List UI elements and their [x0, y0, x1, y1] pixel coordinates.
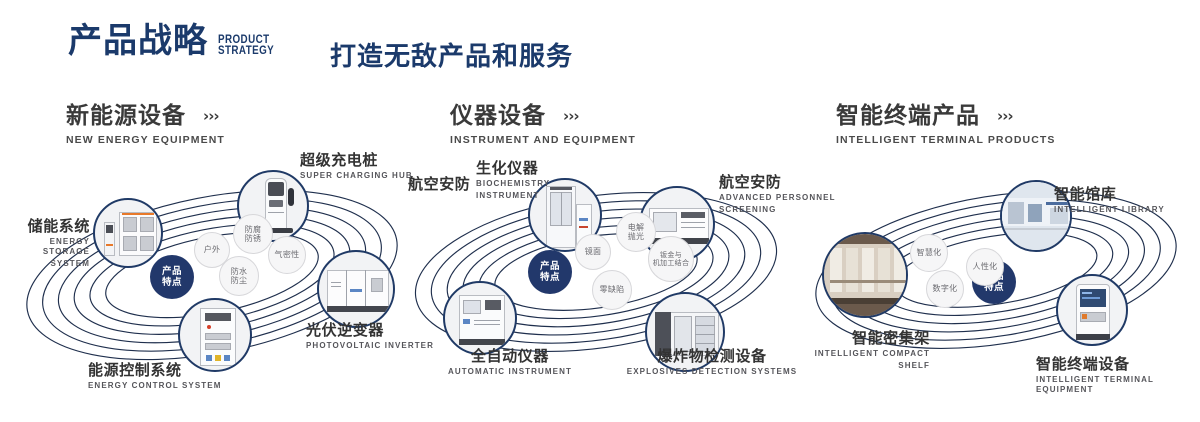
page-subtitle: 打造无敌产品和服务 [330, 36, 573, 73]
feature-line1: 数字化 [933, 284, 958, 294]
core-bubble-line1: 产品 [162, 266, 182, 277]
section-title-instrument: 仪器设备 ››› INSTRUMENT AND EQUIPMENT [450, 96, 636, 146]
caption-intelligent-compact-shelf: 智能密集架 INTELLIGENT COMPACT SHELF [790, 330, 930, 371]
caption-energy-control-system: 能源控制系统 ENERGY CONTROL SYSTEM [88, 362, 222, 391]
battery-cabinet-icon [95, 200, 161, 266]
caption-en-line2: SYSTEM [0, 259, 90, 269]
inverter-cabinet-icon [319, 252, 393, 326]
section-title-new-energy: 新能源设备 ››› NEW ENERGY EQUIPMENT [66, 96, 225, 146]
chevron-right-triple-icon: ››› [203, 107, 219, 125]
product-strategy-infographic: 产品战略 PRODUCT STRATEGY 打造无敌产品和服务 新能源设备 ››… [0, 0, 1200, 422]
feature-bubble-digitalization[interactable]: 数字化 [926, 270, 964, 308]
core-bubble-line1: 产品 [540, 261, 560, 272]
feature-line1: 防水 [231, 267, 248, 277]
feature-bubble-zero-defect[interactable]: 零缺陷 [592, 270, 632, 310]
caption-en-line1: INTELLIGENT TERMINAL EQUIPMENT [1036, 375, 1200, 395]
feature-line2: 抛光 [628, 232, 645, 242]
core-bubble-line2: 特点 [540, 272, 560, 283]
caption-en-line1: SUPER CHARGING HUB [300, 171, 413, 181]
feature-line2: 防尘 [231, 276, 248, 286]
caption-automatic-instrument: 全自动仪器 AUTOMATIC INSTRUMENT [430, 348, 590, 377]
caption-aviation-security-left: 航空安防 [408, 176, 470, 193]
caption-cn: 爆炸物检测设备 [620, 348, 804, 365]
feature-line1: 防腐 [245, 225, 262, 235]
caption-cn: 智能密集架 [790, 330, 930, 347]
chevron-right-triple-icon: ››› [997, 107, 1013, 125]
section-title-cn-text: 智能终端产品 [836, 103, 980, 129]
feature-line1: 零缺陷 [600, 285, 625, 295]
caption-cn: 航空安防 [408, 176, 470, 193]
chevron-right-triple-icon: ››› [563, 107, 579, 125]
caption-intelligent-library: 智能馆库 INTELLIGENT LIBRARY [1054, 186, 1165, 215]
feature-line1: 钣金与 [660, 251, 682, 260]
feature-line1: 户外 [204, 245, 221, 255]
caption-biochemistry-instrument: 生化仪器 BIOCHEMISTRY INSTRUMENT [476, 160, 550, 201]
caption-en-line1: ENERGY STORAGE [0, 237, 90, 257]
product-bubble-energy-storage[interactable] [93, 198, 163, 268]
core-bubble-product-features[interactable]: 产品 特点 [528, 250, 572, 294]
feature-line2: 机加工结合 [653, 259, 690, 268]
feature-line1: 气密性 [275, 250, 300, 260]
section-title-cn: 新能源设备 ››› [66, 96, 225, 130]
caption-en-line1: AUTOMATIC INSTRUMENT [430, 367, 590, 377]
automatic-instrument-icon [445, 283, 515, 353]
page-title-en-line2: STRATEGY [218, 45, 274, 56]
feature-bubble-intelligence[interactable]: 智慧化 [910, 234, 948, 272]
caption-super-charging-hub: 超级充电桩 SUPER CHARGING HUB [300, 152, 413, 181]
section-title-intelligent-terminal: 智能终端产品 ››› INTELLIGENT TERMINAL PRODUCTS [836, 96, 1056, 146]
page-title: 产品战略 PRODUCT STRATEGY [68, 24, 286, 58]
page-title-en: PRODUCT STRATEGY [218, 34, 274, 56]
caption-cn: 储能系统 [0, 218, 90, 235]
feature-line1: 人性化 [973, 262, 998, 272]
section-title-cn: 智能终端产品 ››› [836, 96, 1056, 130]
product-bubble-smart-terminal[interactable] [1056, 274, 1128, 346]
caption-en-line2: INSTRUMENT [476, 191, 550, 201]
feature-bubble-sheetmetal-machining[interactable]: 钣金与 机加工结合 [648, 236, 694, 282]
compact-shelf-icon [824, 234, 906, 316]
caption-en-line1: ENERGY CONTROL SYSTEM [88, 381, 222, 391]
feature-line1: 镜面 [585, 247, 602, 257]
section-title-cn-text: 仪器设备 [450, 103, 546, 129]
section-title-en: NEW ENERGY EQUIPMENT [66, 134, 225, 146]
feature-bubble-anticorrosion[interactable]: 防腐 防锈 [233, 214, 273, 254]
product-bubble-energy-control-system[interactable] [178, 298, 252, 372]
caption-cn: 超级充电桩 [300, 152, 413, 169]
section-title-en: INSTRUMENT AND EQUIPMENT [450, 134, 636, 146]
caption-intelligent-terminal-equipment: 智能终端设备 INTELLIGENT TERMINAL EQUIPMENT [1036, 356, 1200, 395]
caption-en-line1: INTELLIGENT COMPACT [790, 349, 930, 359]
caption-cn: 全自动仪器 [430, 348, 590, 365]
caption-en-line1: INTELLIGENT LIBRARY [1054, 205, 1165, 215]
core-bubble-line2: 特点 [162, 277, 182, 288]
feature-bubble-waterproof[interactable]: 防水 防尘 [219, 256, 259, 296]
caption-cn: 能源控制系统 [88, 362, 222, 379]
product-bubble-automatic-instrument[interactable] [443, 281, 517, 355]
control-cabinet-icon [180, 300, 250, 370]
section-title-cn-text: 新能源设备 [66, 103, 186, 129]
caption-en-line2: SHELF [790, 361, 930, 371]
feature-line1: 电解 [628, 223, 645, 233]
product-bubble-photovoltaic-inverter[interactable] [317, 250, 395, 328]
product-bubble-compact-shelf[interactable] [822, 232, 908, 318]
section-title-cn: 仪器设备 ››› [450, 96, 636, 130]
caption-en-line1: BIOCHEMISTRY [476, 179, 550, 189]
caption-cn: 生化仪器 [476, 160, 550, 177]
feature-bubble-mirror-finish[interactable]: 镜面 [575, 234, 611, 270]
caption-explosives-detection-systems: 爆炸物检测设备 EXPLOSIVES DETECTION SYSTEMS [620, 348, 804, 377]
feature-line2: 防锈 [245, 234, 262, 244]
page-title-cn: 产品战略 [68, 24, 208, 58]
feature-bubble-humanization[interactable]: 人性化 [966, 248, 1004, 286]
section-title-en: INTELLIGENT TERMINAL PRODUCTS [836, 134, 1056, 146]
feature-bubble-airtightness[interactable]: 气密性 [268, 236, 306, 274]
feature-line1: 智慧化 [917, 248, 942, 258]
caption-en-line1: EXPLOSIVES DETECTION SYSTEMS [620, 367, 804, 377]
caption-cn: 智能馆库 [1054, 186, 1165, 203]
caption-energy-storage-system: 储能系统 ENERGY STORAGE SYSTEM [0, 218, 90, 269]
core-bubble-product-features[interactable]: 产品 特点 [150, 255, 194, 299]
smart-terminal-icon [1058, 276, 1126, 344]
caption-cn: 智能终端设备 [1036, 356, 1200, 373]
feature-bubble-electropolishing[interactable]: 电解 抛光 [616, 212, 656, 252]
